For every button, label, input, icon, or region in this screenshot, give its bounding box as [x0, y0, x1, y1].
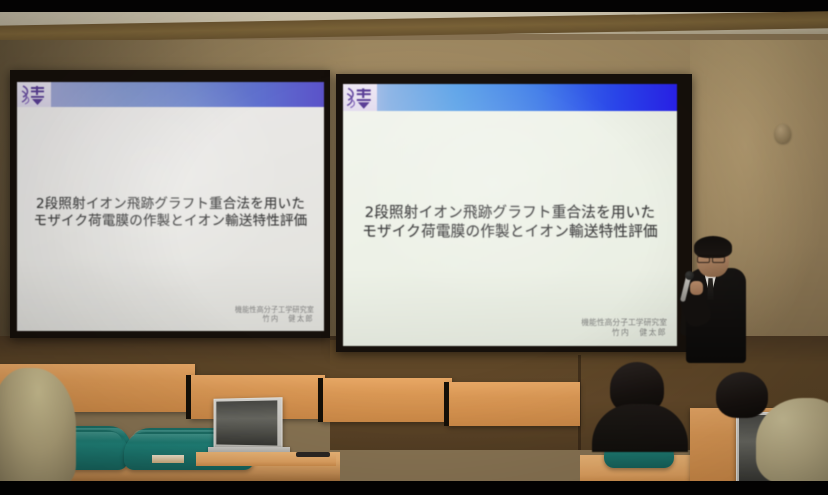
- desk-paper-left: [152, 455, 184, 463]
- wall-fixture-icon: [775, 124, 791, 143]
- left-slide-header-bar: [17, 82, 324, 107]
- lecture-hall-photo: 2段照射イオン飛跡グラフト重合法を用いた モザイク荷電膜の作製とイオン輸送特性評…: [0, 0, 828, 495]
- desk-pen-center: [296, 452, 330, 457]
- desk-seam-a: [186, 375, 191, 419]
- left-slide-footer-lab: 機能性高分子工学研究室: [235, 305, 314, 315]
- right-slide-title: 2段照射イオン飛跡グラフト重合法を用いた モザイク荷電膜の作製とイオン輸送特性評…: [362, 204, 658, 241]
- left-slide-title-line2: モザイク荷電膜の作製とイオン輸送特性評価: [34, 213, 308, 230]
- audience-head-right: [716, 372, 768, 418]
- right-slide-footer-lab: 機能性高分子工学研究室: [581, 318, 667, 329]
- desk-seam-b: [318, 378, 323, 422]
- laptop-screen-center: [216, 400, 277, 445]
- left-slide-title-line1: 2段照射イオン飛跡グラフト重合法を用いた: [36, 196, 305, 212]
- left-slide-footer-name: 竹内 健太郎: [235, 314, 314, 324]
- right-projected-slide: 2段照射イオン飛跡グラフト重合法を用いた モザイク荷電膜の作製とイオン輸送特性評…: [343, 84, 677, 346]
- right-slide-header-bar: [343, 84, 677, 111]
- right-slide-title-line1: 2段照射イオン飛跡グラフト重合法を用いた: [365, 204, 656, 221]
- laboratory-logo-icon: [343, 84, 377, 111]
- right-slide-footer-name: 竹内 健太郎: [581, 328, 667, 339]
- left-slide-body: 2段照射イオン飛跡グラフト重合法を用いた モザイク荷電膜の作製とイオン輸送特性評…: [17, 107, 324, 331]
- left-projected-slide: 2段照射イオン飛跡グラフト重合法を用いた モザイク荷電膜の作製とイオン輸送特性評…: [17, 82, 324, 331]
- audience-foreground-left: [0, 368, 76, 486]
- right-slide-footer: 機能性高分子工学研究室 竹内 健太郎: [581, 318, 667, 339]
- left-slide-footer: 機能性高分子工学研究室 竹内 健太郎: [235, 305, 314, 324]
- right-slide-body: 2段照射イオン飛跡グラフト重合法を用いた モザイク荷電膜の作製とイオン輸送特性評…: [343, 111, 677, 346]
- laboratory-logo-icon: [17, 82, 51, 107]
- laptop-lid-center: [214, 397, 283, 451]
- desk-back-center-c: [448, 382, 580, 426]
- glasses-icon: [697, 255, 725, 261]
- photo-bottom-letterbox: [0, 481, 828, 495]
- desk-back-center-b: [322, 378, 452, 422]
- desk-seam-c: [444, 382, 449, 426]
- left-slide-title: 2段照射イオン飛跡グラフト重合法を用いた モザイク荷電膜の作製とイオン輸送特性評…: [34, 196, 308, 231]
- microphone-head-icon: [685, 271, 694, 280]
- presenter-hand: [690, 281, 703, 295]
- right-slide-title-line2: モザイク荷電膜の作製とイオン輸送特性評価: [362, 223, 658, 242]
